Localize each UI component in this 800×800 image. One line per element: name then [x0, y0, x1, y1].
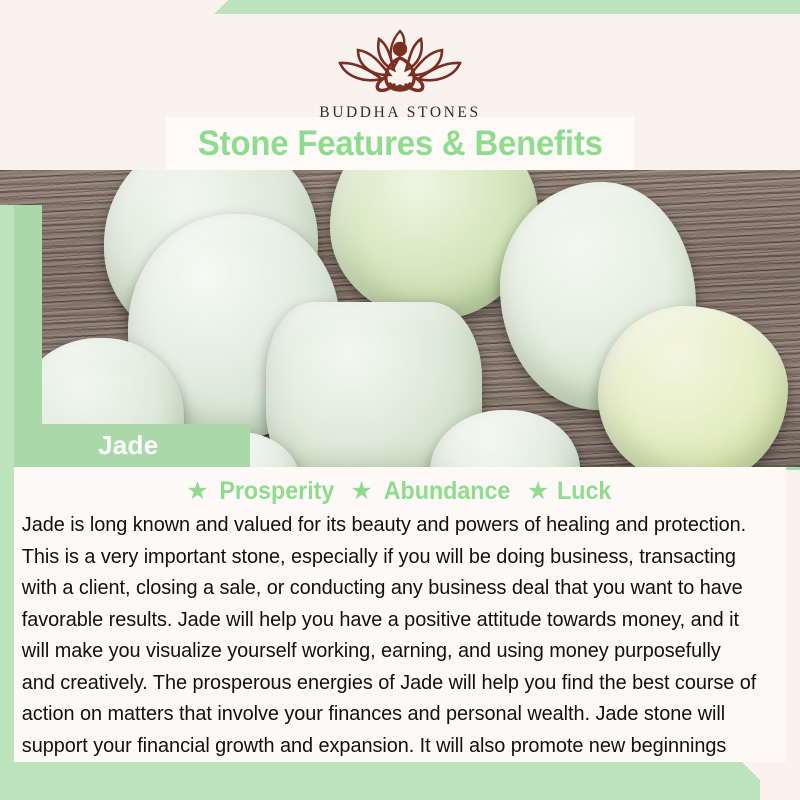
green-bottom-wedge-decoration: [0, 762, 800, 800]
stone-description: Jade is long known and valued for its be…: [14, 510, 767, 794]
lotus-meditation-icon: [324, 22, 476, 100]
benefit-item-abundance: ★ Abundance: [350, 477, 515, 506]
benefits-list: ★ Prosperity ★ Abundance ★ Luck: [14, 467, 786, 508]
benefit-item-luck: ★ Luck: [527, 477, 614, 506]
benefit-label: Abundance: [384, 477, 511, 506]
benefit-item-prosperity: ★ Prosperity: [186, 477, 338, 506]
star-icon: ★: [527, 479, 549, 504]
jade-stones-photo: [0, 170, 800, 467]
stone-name: Jade: [98, 430, 158, 461]
content-section: ★ Prosperity ★ Abundance ★ Luck Jade is …: [14, 467, 786, 762]
green-left-strip-decoration: [0, 205, 14, 800]
stone-name-band: Jade: [28, 424, 250, 467]
benefit-label: Prosperity: [219, 477, 334, 506]
title-banner: Stone Features & Benefits: [166, 117, 634, 170]
brand-logo: BUDDHA STONES: [0, 22, 800, 122]
page-title: Stone Features & Benefits: [198, 126, 603, 161]
benefit-label: Luck: [557, 477, 611, 506]
star-icon: ★: [350, 479, 372, 504]
stone-info-poster: BUDDHA STONES Stone Features & Benefits …: [0, 0, 800, 800]
star-icon: ★: [186, 479, 208, 504]
